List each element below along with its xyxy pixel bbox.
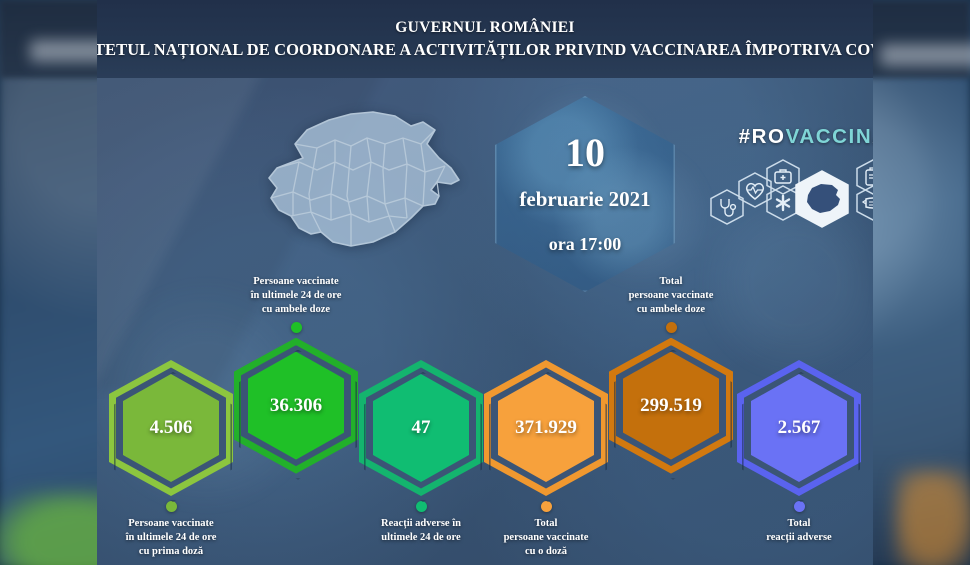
stat-connector-dot	[416, 501, 427, 512]
date-hexagon: 10 februarie 2021 ora 17:00	[495, 96, 675, 292]
brand-tail: ARE	[872, 125, 873, 148]
rovaccinare-brand: #ROVACCINARE	[707, 125, 873, 240]
stat-caption: Persoane vaccinate în ultimele 24 de ore…	[126, 517, 217, 559]
stat-total-adverse-reactions: 2.567Total reacții adverse	[737, 360, 861, 545]
stat-caption: Reacții adverse în ultimele 24 de ore	[381, 517, 461, 545]
stat-adverse-reactions-24h: 47Reacții adverse în ultimele 24 de ore	[359, 360, 483, 545]
heart-pulse-icon	[739, 173, 771, 207]
brand-icon-row	[710, 159, 874, 231]
stat-caption: Persoane vaccinate în ultimele 24 de ore…	[251, 275, 342, 317]
date-day: 10	[565, 133, 605, 173]
stat-caption: Total persoane vaccinate cu ambele doze	[629, 275, 714, 317]
infographic-panel: GUVERNUL ROMÂNIEI COMITETUL NAȚIONAL DE …	[97, 0, 873, 565]
stat-value: 299.519	[609, 338, 733, 474]
stat-hexagon: 2.567	[737, 360, 861, 496]
romania-map-illustration	[255, 100, 467, 262]
stat-value: 36.306	[234, 338, 358, 474]
romania-map-icon	[796, 171, 848, 227]
header-committee-line: COMITETUL NAȚIONAL DE COORDONARE A ACTIV…	[97, 40, 873, 60]
stat-hexagon: 371.929	[484, 360, 608, 496]
stat-connector-dot	[666, 322, 677, 333]
brand-accent: VACCIN	[786, 125, 873, 148]
stat-hexagon: 36.306	[234, 338, 358, 474]
stat-caption: Total reacții adverse	[766, 517, 831, 545]
romania-map-shape	[269, 112, 459, 246]
face-mask-icon	[857, 186, 874, 220]
stat-hexagon: 4.506	[109, 360, 233, 496]
stat-caption: Total persoane vaccinate cu o doză	[504, 517, 589, 559]
first-aid-kit-icon	[767, 160, 799, 194]
date-hour: ora 17:00	[549, 234, 621, 255]
stat-value: 47	[359, 360, 483, 496]
header-government-line: GUVERNUL ROMÂNIEI	[395, 19, 575, 37]
stat-value: 2.567	[737, 360, 861, 496]
star-of-life-icon	[767, 186, 799, 220]
stat-total-vaccinated-one-dose: 371.929Total persoane vaccinate cu o doz…	[484, 360, 608, 559]
stat-connector-dot	[794, 501, 805, 512]
stat-vaccinated-24h-both-doses: Persoane vaccinate în ultimele 24 de ore…	[234, 275, 358, 474]
page-header: GUVERNUL ROMÂNIEI COMITETUL NAȚIONAL DE …	[97, 0, 873, 78]
background-glow-right	[896, 470, 970, 565]
stat-connector-dot	[166, 501, 177, 512]
screenshot-root: GUVERNUL ROMÂNIEI COMITETUL NAȚIONAL DE …	[0, 0, 970, 565]
brand-wordmark: #ROVACCINARE	[739, 125, 873, 149]
stat-connector-dot	[291, 322, 302, 333]
date-month-year: februarie 2021	[519, 187, 650, 212]
clipboard-check-icon	[857, 160, 874, 194]
stat-connector-dot	[541, 501, 552, 512]
stethoscope-icon	[711, 190, 743, 224]
stat-hexagon: 47	[359, 360, 483, 496]
brand-hash: #RO	[739, 125, 786, 148]
background-blur-bar-right	[880, 44, 970, 66]
stat-vaccinated-24h-first-dose: 4.506Persoane vaccinate în ultimele 24 d…	[109, 360, 233, 559]
stat-value: 371.929	[484, 360, 608, 496]
stat-value: 4.506	[109, 360, 233, 496]
stat-total-vaccinated-both-doses: Total persoane vaccinate cu ambele doze2…	[609, 275, 733, 474]
stat-hexagon: 299.519	[609, 338, 733, 474]
